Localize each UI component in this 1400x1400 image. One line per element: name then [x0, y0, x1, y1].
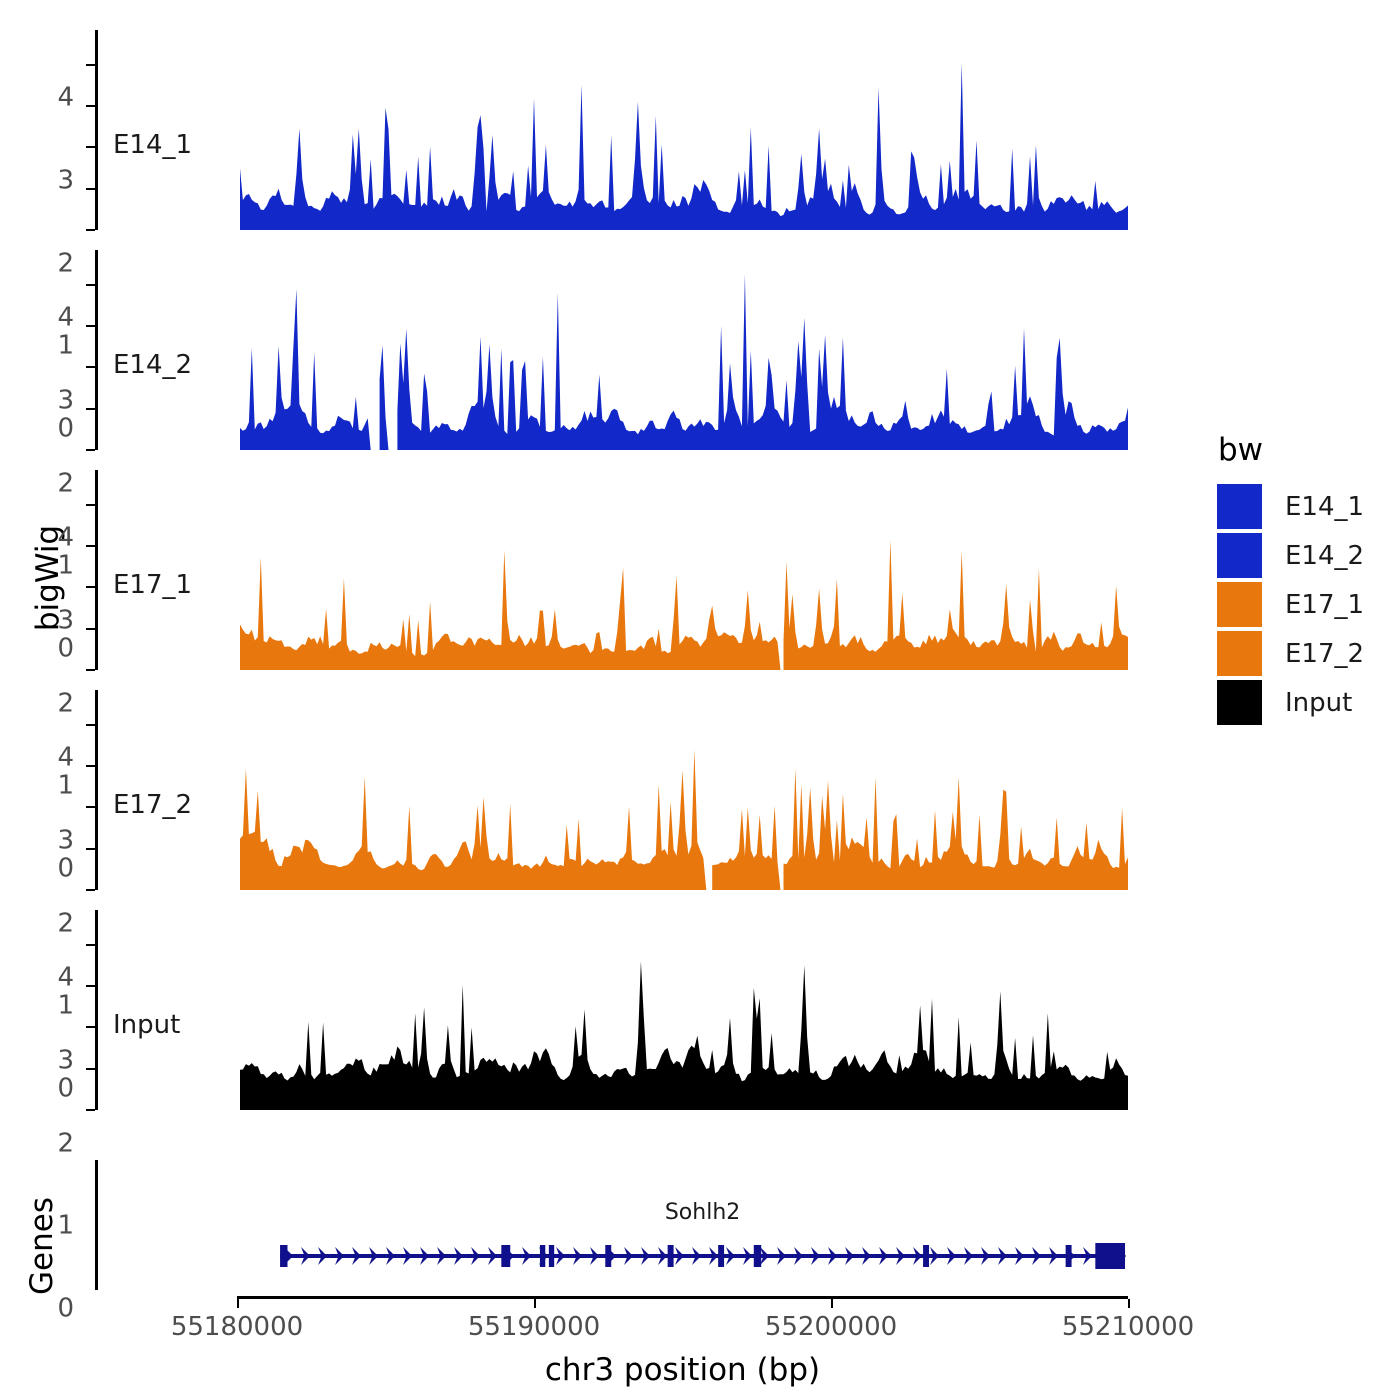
y-tick-label: 0 — [57, 633, 74, 663]
track-label-input: Input — [113, 1010, 180, 1040]
x-tick-label: 55180000 — [171, 1312, 303, 1342]
legend-swatch-e17_2 — [1216, 630, 1263, 677]
y-tick-label: 0 — [57, 413, 74, 443]
x-tick — [831, 1299, 833, 1308]
y-tick-label: 4 — [57, 963, 74, 993]
legend-swatch-input — [1216, 679, 1263, 726]
y-tick: 0 — [86, 669, 95, 671]
x-axis-label: chr3 position (bp) — [237, 1352, 1128, 1388]
legend-label: E17_2 — [1285, 639, 1364, 669]
y-tick: 1 — [86, 848, 95, 850]
y-axis-line — [95, 30, 98, 230]
y-tick: 3 — [86, 765, 95, 767]
x-tick — [237, 1299, 239, 1308]
legend-title: bw — [1218, 432, 1364, 468]
y-tick: 4 — [86, 504, 95, 506]
y-tick-label: 4 — [57, 743, 74, 773]
legend-label: E14_1 — [1285, 492, 1364, 522]
y-tick-label: 1 — [57, 991, 74, 1021]
legend-label: Input — [1285, 688, 1352, 718]
gene-track[interactable] — [237, 1160, 1128, 1290]
y-tick-label: 2 — [57, 1128, 74, 1158]
track-label-e14_2: E14_2 — [113, 350, 192, 380]
y-tick-label: 2 — [57, 688, 74, 718]
y-tick-label: 2 — [57, 908, 74, 938]
track-label-e14_1: E14_1 — [113, 130, 192, 160]
y-tick-label: 3 — [57, 165, 74, 195]
y-tick-label: 1 — [57, 551, 74, 581]
y-tick: 4 — [86, 64, 95, 66]
legend-item-e14_2[interactable]: E14_2 — [1216, 531, 1364, 580]
y-tick-label: 1 — [57, 1211, 74, 1241]
y-tick: 0 — [86, 229, 95, 231]
y-tick-label: 4 — [57, 523, 74, 553]
y-tick-label: 2 — [57, 468, 74, 498]
gene-axis-line — [95, 1160, 98, 1290]
y-tick: 2 — [86, 806, 95, 808]
coverage-plot-e14_2[interactable] — [237, 250, 1128, 450]
x-tick-label: 55210000 — [1062, 1312, 1194, 1342]
y-tick-label: 3 — [57, 825, 74, 855]
coverage-plot-e17_1[interactable] — [237, 470, 1128, 670]
y-tick: 2 — [86, 366, 95, 368]
x-axis-line — [237, 1296, 1128, 1299]
y-tick-label: 4 — [57, 303, 74, 333]
y-tick: 0 — [86, 889, 95, 891]
legend-item-e17_2[interactable]: E17_2 — [1216, 629, 1364, 678]
y-axis-line — [95, 250, 98, 450]
track-label-e17_2: E17_2 — [113, 790, 192, 820]
y-tick: 0 — [86, 1109, 95, 1111]
legend-swatch-e17_1 — [1216, 581, 1263, 628]
y-tick-label: 0 — [57, 1073, 74, 1103]
y-tick: 3 — [86, 105, 95, 107]
y-axis-line — [95, 470, 98, 670]
y-tick-label: 3 — [57, 605, 74, 635]
y-tick-label: 0 — [57, 853, 74, 883]
y-tick: 2 — [86, 586, 95, 588]
y-tick-label: 4 — [57, 83, 74, 113]
legend-item-e14_1[interactable]: E14_1 — [1216, 482, 1364, 531]
legend-label: E17_1 — [1285, 590, 1364, 620]
y-axis-line — [95, 910, 98, 1110]
y-tick: 3 — [86, 325, 95, 327]
x-tick — [534, 1299, 536, 1308]
y-tick: 2 — [86, 146, 95, 148]
track-label-e17_1: E17_1 — [113, 570, 192, 600]
y-tick-label: 2 — [57, 248, 74, 278]
x-tick — [1128, 1299, 1130, 1308]
legend-swatch-e14_1 — [1216, 483, 1263, 530]
y-tick: 1 — [86, 408, 95, 410]
legend-entries: E14_1E14_2E17_1E17_2Input — [1216, 482, 1364, 727]
x-tick-label: 55200000 — [765, 1312, 897, 1342]
coverage-plot-input[interactable] — [237, 910, 1128, 1110]
legend: bw E14_1E14_2E17_1E17_2Input — [1216, 432, 1364, 727]
y-axis-line — [95, 690, 98, 890]
y-tick-label: 3 — [57, 385, 74, 415]
y-tick-label: 3 — [57, 1045, 74, 1075]
y-tick: 4 — [86, 944, 95, 946]
y-tick: 1 — [86, 188, 95, 190]
y-tick: 4 — [86, 284, 95, 286]
y-tick: 3 — [86, 545, 95, 547]
y-axis-label-genes: Genes — [24, 1156, 60, 1336]
coverage-plot-e17_2[interactable] — [237, 690, 1128, 890]
x-tick-label: 55190000 — [468, 1312, 600, 1342]
y-tick: 2 — [86, 1026, 95, 1028]
coverage-plot-e14_1[interactable] — [237, 30, 1128, 230]
y-tick: 1 — [86, 1068, 95, 1070]
legend-swatch-e14_2 — [1216, 532, 1263, 579]
y-tick: 3 — [86, 985, 95, 987]
y-tick: 0 — [86, 449, 95, 451]
y-tick-label: 1 — [57, 771, 74, 801]
legend-item-input[interactable]: Input — [1216, 678, 1364, 727]
y-tick: 4 — [86, 724, 95, 726]
gene-name-label: Sohlh2 — [665, 1200, 740, 1225]
legend-label: E14_2 — [1285, 541, 1364, 571]
y-tick-label: 0 — [57, 1293, 74, 1323]
y-tick: 1 — [86, 628, 95, 630]
legend-item-e17_1[interactable]: E17_1 — [1216, 580, 1364, 629]
y-tick-label: 1 — [57, 331, 74, 361]
